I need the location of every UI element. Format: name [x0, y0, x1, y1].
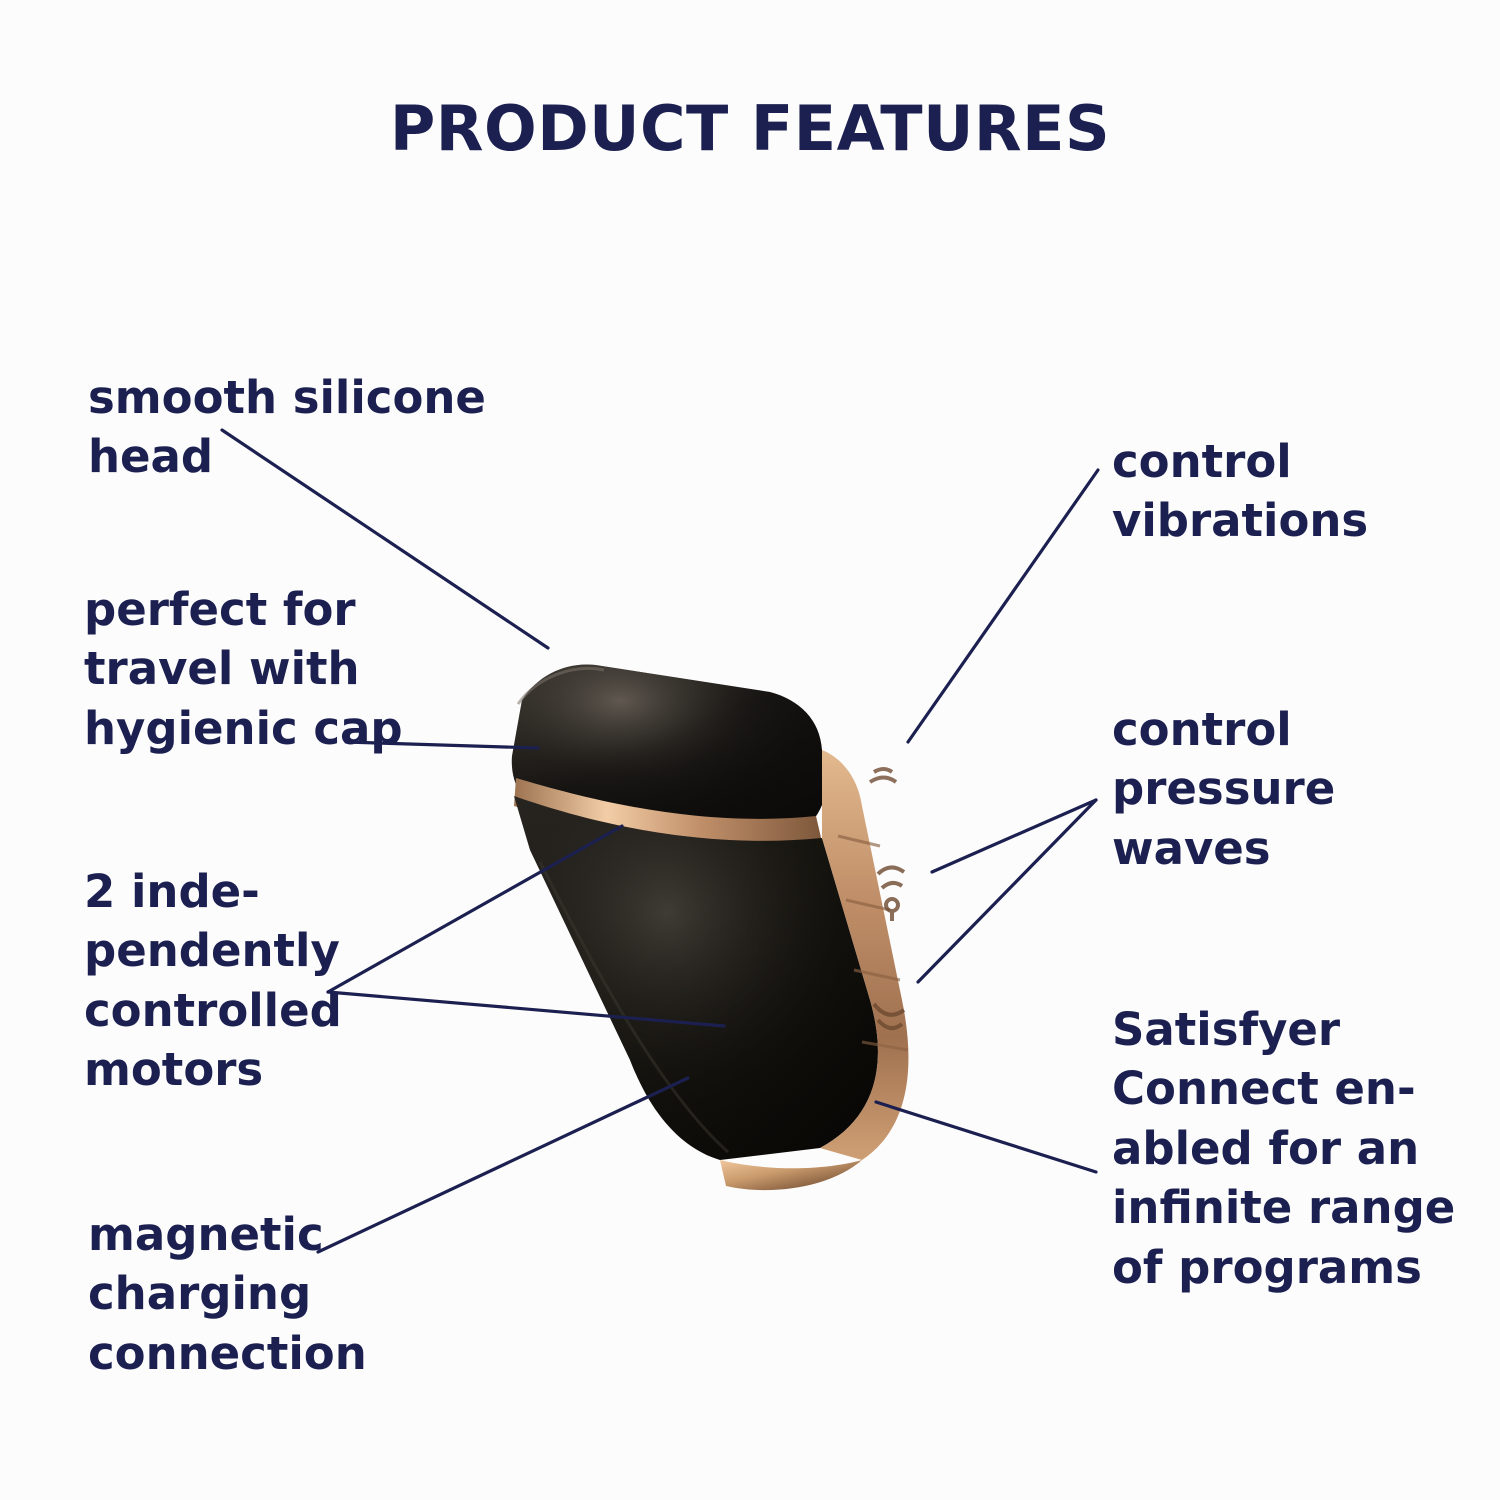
label-magnetic-charging: magnetic charging connection	[88, 1205, 367, 1383]
label-two-motors: 2 inde- pendently controlled motors	[84, 862, 342, 1100]
diagram-canvas: PRODUCT FEATURES smooth silicone head pe…	[0, 0, 1500, 1500]
label-control-vibrations: control vibrations	[1112, 432, 1368, 551]
label-perfect-for-travel: perfect for travel with hygienic cap	[84, 580, 403, 758]
page-title: PRODUCT FEATURES	[0, 92, 1500, 165]
bottom-rim	[720, 1160, 862, 1190]
label-control-pressure-waves: control pressure waves	[1112, 700, 1335, 878]
vibration-button	[870, 769, 896, 782]
product-illustration	[470, 600, 990, 1220]
label-smooth-silicone-head: smooth silicone head	[88, 368, 486, 487]
label-satisfyer-connect: Satisfyer Connect en- abled for an infin…	[1112, 1000, 1455, 1297]
